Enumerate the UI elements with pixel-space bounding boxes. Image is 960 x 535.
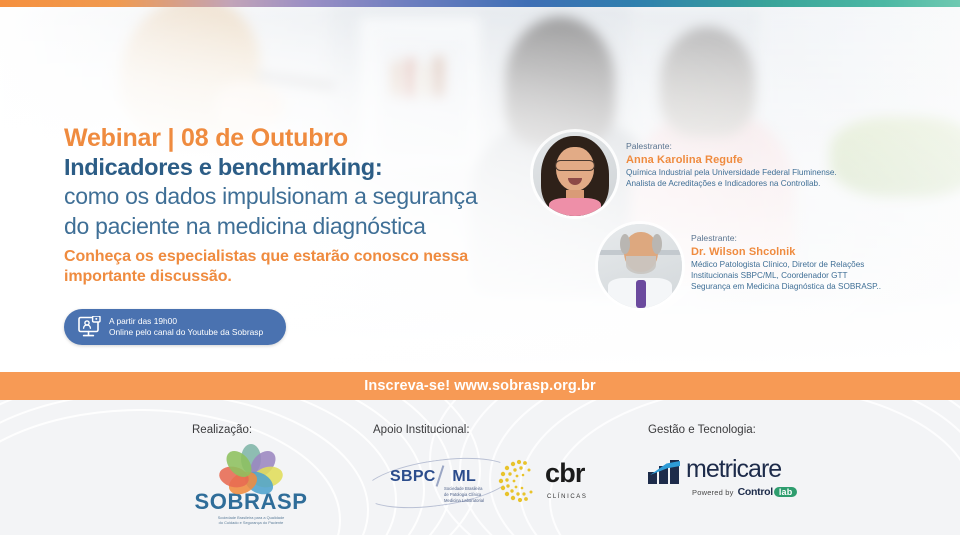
speaker-bio-line: Química Industrial pela Universidade Fed… xyxy=(626,168,837,179)
webinar-subcopy-line1: Conheça os especialistas que estarão con… xyxy=(64,247,534,267)
speaker-bio-line: Médico Patologista Clínico, Diretor de R… xyxy=(691,260,881,271)
speaker-bio-line: Segurança em Medicina Diagnóstica da SOB… xyxy=(691,282,881,293)
footer: Realização: SOBRASP Sociedade Brasileira… xyxy=(0,400,960,535)
schedule-badge[interactable]: A partir das 19h00 Online pelo canal do … xyxy=(64,309,286,345)
avatar xyxy=(533,132,617,216)
footer-heading: Gestão e Tecnologia: xyxy=(648,424,756,436)
sobrasp-wordmark: SOBRASP xyxy=(178,491,324,513)
webinar-kicker: Webinar | 08 de Outubro xyxy=(64,124,534,152)
controllab-brand: Control xyxy=(738,486,773,498)
speaker-card-anna: Palestrante: Anna Karolina Regufe Químic… xyxy=(533,132,837,216)
webinar-title-line1: como os dados impulsionam a segurança xyxy=(64,182,534,211)
webinar-title-strong: Indicadores e benchmarking: xyxy=(64,154,534,181)
webinar-poster: Webinar | 08 de Outubro Indicadores e be… xyxy=(0,0,960,535)
metricare-logo: metricare Powered by Control lab xyxy=(648,452,838,510)
speaker-bio: Química Industrial pela Universidade Fed… xyxy=(626,168,837,190)
cbr-dot-swirl-icon xyxy=(495,458,541,504)
registration-cta-band[interactable]: Inscreva-se! www.sobrasp.org.br xyxy=(0,372,960,400)
footer-column-realizacao: Realização: SOBRASP Sociedade Brasileira… xyxy=(0,400,340,535)
metricare-chart-icon xyxy=(648,460,682,484)
speaker-name: Anna Karolina Regufe xyxy=(626,152,837,169)
speaker-card-wilson: Palestrante: Dr. Wilson Shcolnik Médico … xyxy=(598,224,881,308)
cbr-subtitle: clínicas xyxy=(547,490,587,500)
metricare-wordmark: metricare xyxy=(686,457,781,482)
registration-cta-text: Inscreva-se! www.sobrasp.org.br xyxy=(364,378,595,394)
speaker-role-label: Palestrante: xyxy=(626,141,837,152)
sbpc-sub-line3: Medicina Laboratorial xyxy=(444,498,484,504)
speaker-info: Palestrante: Anna Karolina Regufe Químic… xyxy=(626,132,837,190)
webinar-subcopy: Conheça os especialistas que estarão con… xyxy=(64,247,534,286)
webinar-subcopy-line2: importante discussão. xyxy=(64,267,534,287)
speaker-bio-line: Analista de Acreditações e Indicadores n… xyxy=(626,179,837,190)
sobrasp-tagline: Sociedade Brasileira para a Qualidade do… xyxy=(178,515,324,526)
metricare-powered-by: Powered by Control lab xyxy=(692,486,797,498)
footer-heading: Apoio Institucional: xyxy=(373,424,470,436)
sbpc-word-a: SBPC xyxy=(390,468,436,485)
footer-heading: Realização: xyxy=(192,424,252,436)
powered-by-label: Powered by xyxy=(692,488,734,497)
sbpc-word-b: ML xyxy=(452,468,476,485)
sobrasp-flower-icon xyxy=(219,444,283,490)
top-gradient-bar xyxy=(0,0,960,7)
avatar xyxy=(598,224,682,308)
speaker-bio-line: Institucionais SBPC/ML, Coordenador GTT xyxy=(691,271,881,282)
cbr-clinicas-logo: cbr clínicas xyxy=(495,456,625,508)
sbpc-subtitle: Sociedade Brasileira de Patologia Clínic… xyxy=(444,486,484,504)
sobrasp-tagline-line2: do Cuidado e Segurança do Paciente xyxy=(178,520,324,525)
speaker-role-label: Palestrante: xyxy=(691,233,881,244)
schedule-line2: Online pelo canal do Youtube da Sobrasp xyxy=(109,327,263,338)
footer-columns: Realização: SOBRASP Sociedade Brasileira… xyxy=(0,400,960,535)
schedule-line1: A partir das 19h00 xyxy=(109,316,263,327)
footer-column-gestao: Gestão e Tecnologia: metricare Powered b… xyxy=(630,400,960,535)
webinar-title-line2: do paciente na medicina diagnóstica xyxy=(64,212,534,241)
sbpc-wordmark: SBPC ML xyxy=(390,468,476,486)
controllab-badge: lab xyxy=(774,487,798,497)
schedule-badge-text: A partir das 19h00 Online pelo canal do … xyxy=(109,316,263,339)
webinar-monitor-icon xyxy=(73,316,107,338)
footer-column-apoio: Apoio Institucional: SBPC ML Sociedade B… xyxy=(340,400,630,535)
speaker-info: Palestrante: Dr. Wilson Shcolnik Médico … xyxy=(691,224,881,293)
headline-block: Webinar | 08 de Outubro Indicadores e be… xyxy=(64,124,534,286)
speaker-name: Dr. Wilson Shcolnik xyxy=(691,244,881,261)
sobrasp-logo: SOBRASP Sociedade Brasileira para a Qual… xyxy=(178,444,324,526)
speaker-bio: Médico Patologista Clínico, Diretor de R… xyxy=(691,260,881,293)
cbr-wordmark: cbr xyxy=(545,460,585,487)
